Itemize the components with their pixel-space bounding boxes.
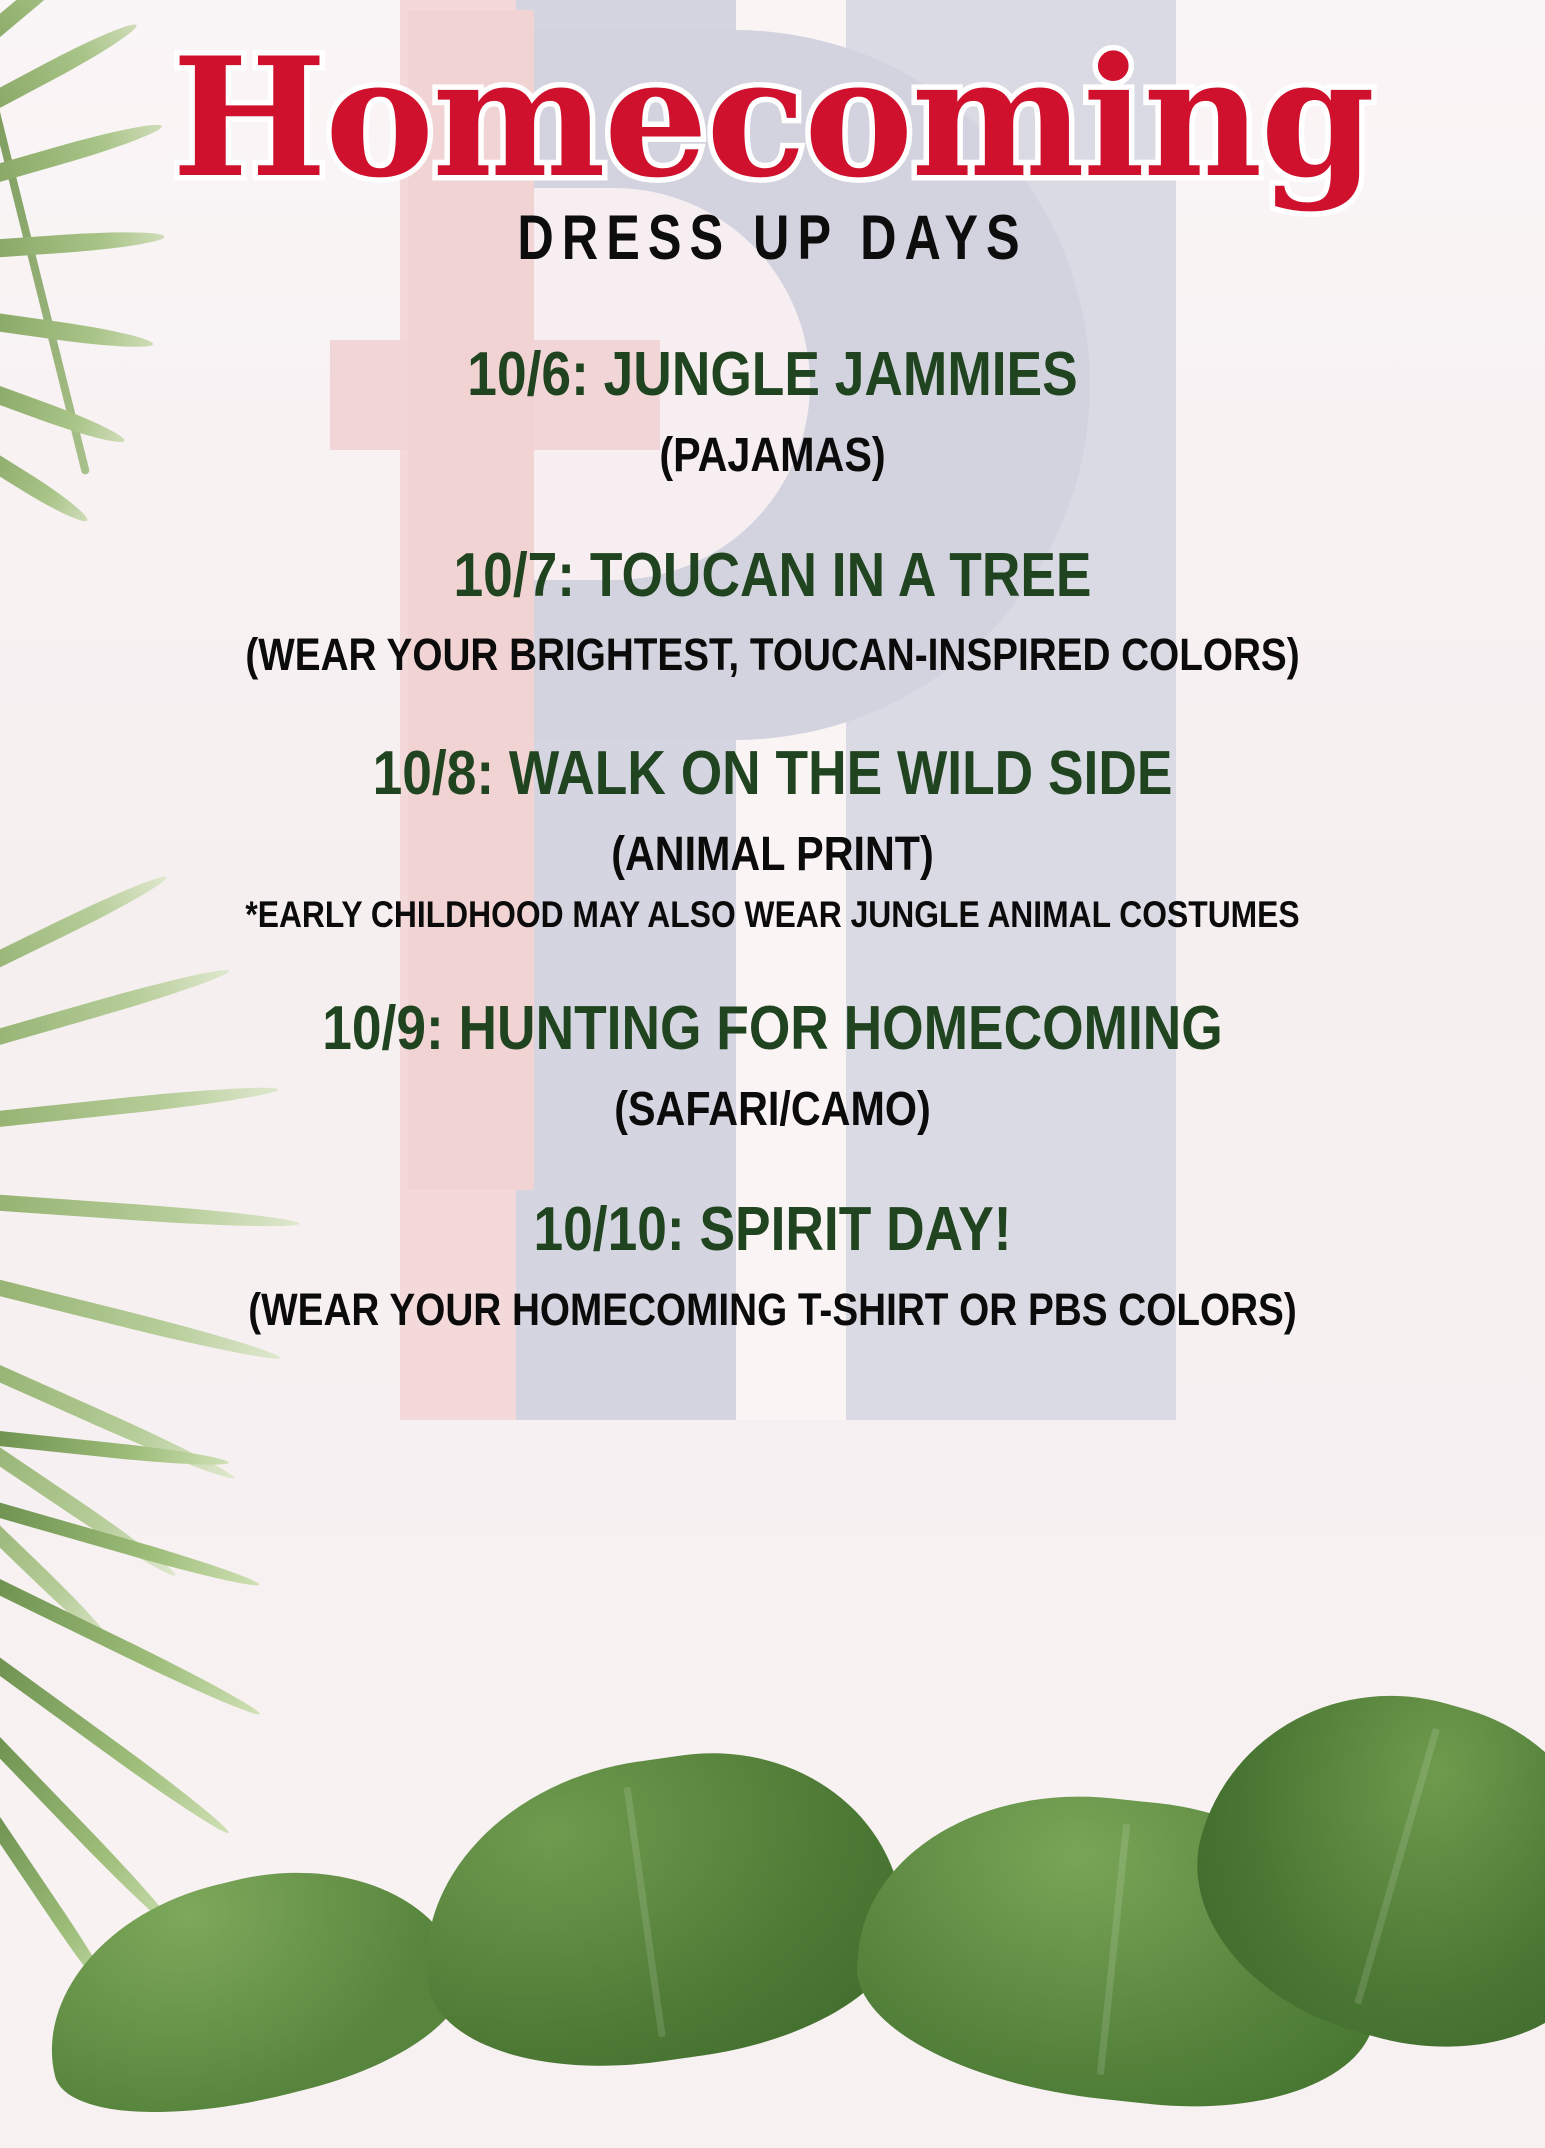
day-entry: 10/10: SPIRIT DAY! (WEAR YOUR HOMECOMING… [0,1195,1545,1335]
day-subtext: (WEAR YOUR HOMECOMING T-SHIRT OR PBS COL… [108,1285,1437,1335]
day-subtext: (WEAR YOUR BRIGHTEST, TOUCAN-INSPIRED CO… [108,630,1437,680]
day-entry: 10/8: WALK ON THE WILD SIDE (ANIMAL PRIN… [0,739,1545,936]
day-entry: 10/6: JUNGLE JAMMIES (PAJAMAS) [0,340,1545,483]
poster-content: Homecoming DRESS UP DAYS 10/6: JUNGLE JA… [0,0,1545,1335]
day-heading: 10/10: SPIRIT DAY! [108,1195,1437,1264]
day-entry: 10/7: TOUCAN IN A TREE (WEAR YOUR BRIGHT… [0,541,1545,681]
day-subtext: (SAFARI/CAMO) [108,1083,1437,1137]
dress-up-days-list: 10/6: JUNGLE JAMMIES (PAJAMAS) 10/7: TOU… [0,340,1545,1335]
poster-header: Homecoming DRESS UP DAYS [0,40,1545,274]
day-note: *EARLY CHILDHOOD MAY ALSO WEAR JUNGLE AN… [108,894,1437,936]
day-entry: 10/9: HUNTING FOR HOMECOMING (SAFARI/CAM… [0,994,1545,1137]
day-subtext: (ANIMAL PRINT) [108,828,1437,882]
day-heading: 10/9: HUNTING FOR HOMECOMING [108,994,1437,1063]
day-subtext: (PAJAMAS) [108,429,1437,483]
day-heading: 10/8: WALK ON THE WILD SIDE [108,739,1437,808]
day-heading: 10/7: TOUCAN IN A TREE [108,541,1437,610]
poster-title: Homecoming [172,40,1373,196]
day-heading: 10/6: JUNGLE JAMMIES [108,340,1437,409]
poster-subtitle: DRESS UP DAYS [155,202,1391,274]
